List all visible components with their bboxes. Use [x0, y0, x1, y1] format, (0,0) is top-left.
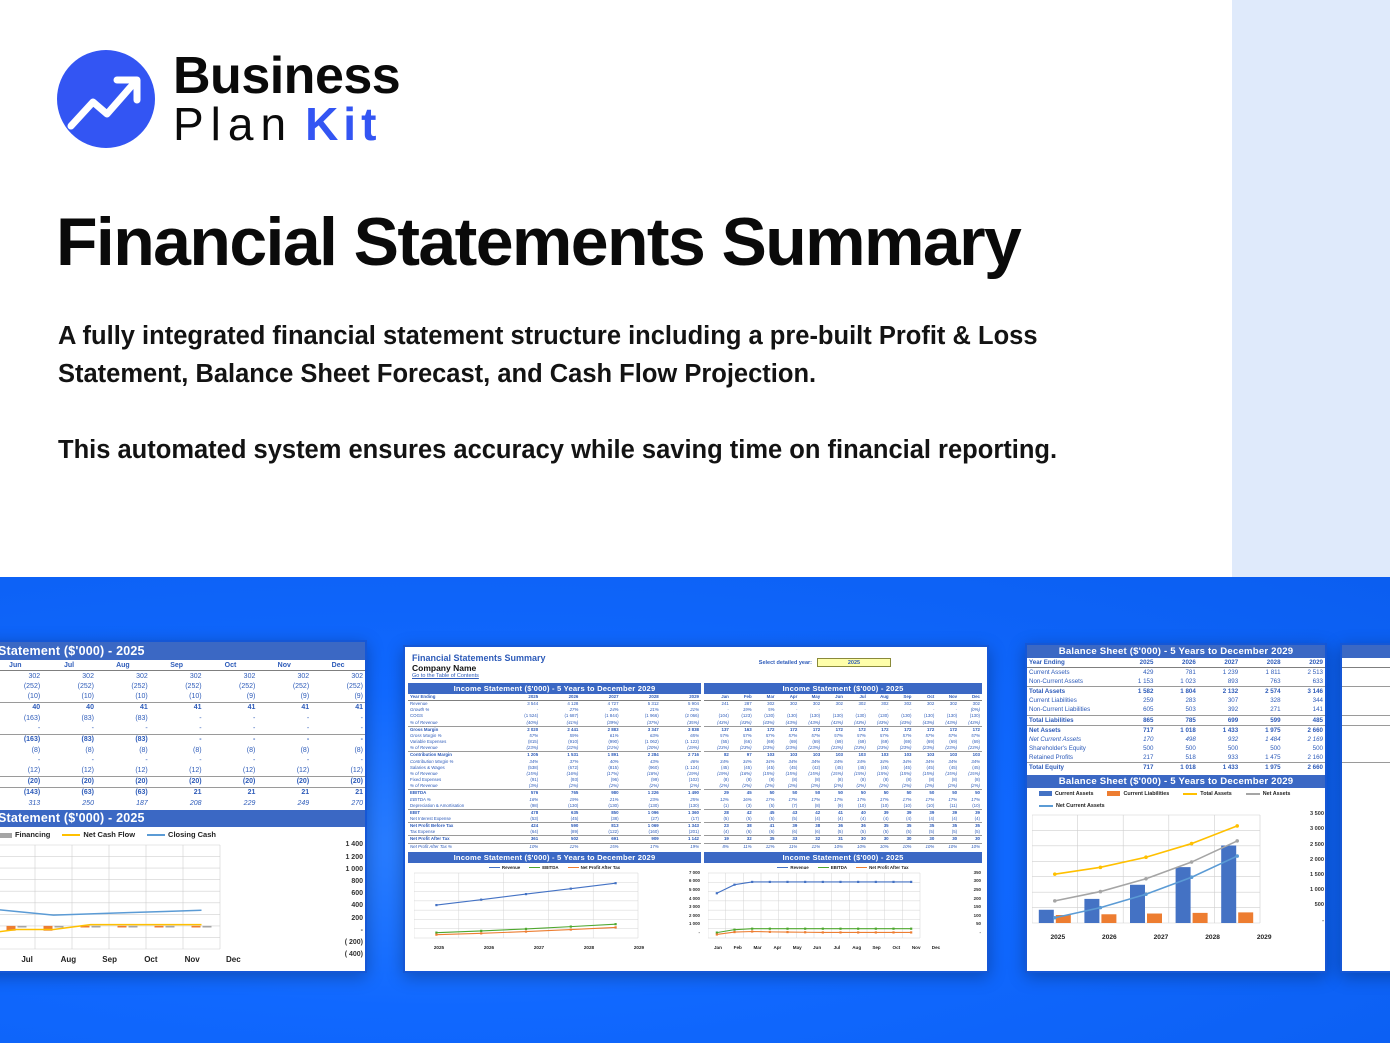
table-row: Jan [1342, 658, 1390, 668]
cell: Net Interest Expense [408, 816, 500, 823]
table-row: -------- [0, 724, 365, 735]
cell: (2%) [868, 783, 891, 790]
cell: 512 [1342, 763, 1390, 773]
cell: (3%) [500, 783, 540, 790]
annual-chart-legend: RevenueEBITDANet Profit After Tax [408, 863, 701, 870]
y-tick: ( 400) [345, 951, 363, 958]
cell: 30 [913, 836, 936, 843]
table-row: 93 [1342, 696, 1390, 705]
legend-swatch [1107, 791, 1120, 796]
cell: (130) [661, 803, 701, 810]
annual-chart-x-labels: 20252026202720282029 [414, 945, 664, 950]
cell: (23%) [845, 745, 868, 752]
cell: 1 239 [1198, 668, 1240, 678]
table-row: Tax Expense(64)(89)(122)(160)(201) [408, 829, 701, 836]
cell: (43%) [845, 720, 868, 727]
cell: (5) [891, 829, 914, 836]
table-row: 500 [1342, 744, 1390, 753]
cell: 717 [1113, 763, 1155, 773]
cell: 302 [204, 671, 258, 682]
table-row: % of Revenue(40%)(41%)(39%)(37%)(35%) [408, 720, 701, 727]
balance-chart-x-labels: 20252026202720282029 [1032, 934, 1290, 941]
cell: 2028 [1240, 658, 1282, 668]
table-row: 233841393836363535353535 [704, 823, 982, 830]
cell: EBITDA [408, 790, 500, 797]
cell: 328 [1240, 696, 1282, 705]
cell: 187 [96, 798, 150, 809]
y-tick: 800 [351, 878, 363, 885]
y-tick: 350 [974, 870, 981, 875]
cell: Retained Profits [1027, 753, 1113, 763]
y-tick: 400 [351, 902, 363, 909]
cell: 30 [959, 836, 982, 843]
cell: 103 [754, 752, 777, 759]
cell: (252) [0, 681, 42, 692]
table-row: 241287302302302302302302302302302302 [704, 701, 982, 708]
cell: 302 [822, 701, 845, 708]
cell: (8) [799, 803, 822, 810]
x-tick: Nov [172, 955, 213, 964]
cell: 35 [936, 823, 959, 830]
table-row: 193235333231303030303030 [704, 836, 982, 843]
cell: 21 [257, 787, 311, 798]
cell: 35 [868, 823, 891, 830]
cell: 1 081 [1342, 735, 1390, 744]
table-row: MayJunJulAugSepOctNovDec [0, 660, 365, 671]
cell: 41 [311, 702, 365, 713]
balance-chart-title: Balance Sheet ($'000) - 5 Years to Decem… [1027, 775, 1325, 788]
cell: 302 [799, 701, 822, 708]
legend-swatch [856, 867, 867, 868]
y-tick: 3 500 [1310, 811, 1324, 817]
cell: (5) [776, 816, 799, 823]
annual-income-title: Income Statement ($'000) - 5 Years to De… [408, 683, 701, 694]
cell: 2025 [500, 694, 540, 701]
cell: - [257, 724, 311, 735]
cell: (252) [96, 681, 150, 692]
income-company-name: Company Name [412, 663, 987, 673]
cell: (43%) [868, 720, 891, 727]
table-row: (43%)(43%)(43%)(43%)(43%)(43%)(43%)(43%)… [704, 720, 982, 727]
cell: 21 [204, 787, 258, 798]
cell: 2026 [1155, 658, 1197, 668]
cell: 518 [1155, 753, 1197, 763]
cell: (37%) [621, 720, 661, 727]
cell: (21%) [580, 745, 620, 752]
cell: (83) [96, 713, 150, 724]
cell: (23%) [776, 745, 799, 752]
table-row: (8)(8)(8)(8)(8)(8)(8)(8) [0, 745, 365, 756]
cell: 1 582 [1113, 687, 1155, 697]
x-tick: May [787, 945, 807, 950]
cell: 21 [311, 787, 365, 798]
cell: (252) [257, 681, 311, 692]
cell: 502 [540, 836, 580, 843]
x-tick: 2029 [1238, 934, 1290, 941]
y-tick: 2 000 [1310, 857, 1324, 863]
cell: 32 [731, 836, 754, 843]
cell: 32 [799, 836, 822, 843]
cell: 217 [1113, 753, 1155, 763]
cell: 50 [845, 790, 868, 797]
cell: (20) [204, 777, 258, 788]
cell: 717 [1113, 725, 1155, 735]
cell: Sep [150, 660, 204, 671]
cell: 270 [311, 798, 365, 809]
cell: 229 [204, 798, 258, 809]
cell: Dec [311, 660, 365, 671]
cell: - [150, 724, 204, 735]
monthly-income-table: JanFebMarAprMayJunJulAugSepOctNovDec2412… [704, 694, 982, 850]
cell: (39%) [580, 720, 620, 727]
legend-swatch [777, 867, 788, 868]
cell: 692 [1342, 705, 1390, 715]
cell: (10) [845, 803, 868, 810]
cell: Total Equity [1027, 763, 1113, 773]
table-row: Year Ending20252026202720282029 [1027, 658, 1325, 668]
cell: 4 128 [540, 701, 580, 708]
cell: (130) [580, 803, 620, 810]
cell: (10) [959, 803, 982, 810]
legend-swatch [818, 867, 829, 868]
hero-paragraph-1: A fully integrated financial statement s… [58, 318, 1133, 393]
cell: 10% [822, 843, 845, 850]
cell: (20) [150, 777, 204, 788]
table-row: Current Liabilities259283307328344 [1027, 696, 1325, 705]
cashflow-screenshot-card[interactable]: Cash Flow Statement ($'000) - 2025 MayJu… [0, 640, 367, 973]
cell: 1 475 [1240, 753, 1282, 763]
cell: 172 [822, 726, 845, 733]
cell: - [0, 755, 42, 766]
cell: 39 [868, 809, 891, 816]
cell: 40 [42, 702, 96, 713]
cell: (8) [96, 745, 150, 756]
cell: (27) [621, 816, 661, 823]
cell: 11% [731, 843, 754, 850]
cell: 33 [776, 836, 799, 843]
cell: (9) [257, 692, 311, 703]
cell: 19 [708, 836, 731, 843]
table-row: Retained Profits2175189331 4752 160 [1027, 753, 1325, 763]
cell: 30 [845, 836, 868, 843]
logo-text-business: Business [173, 51, 400, 102]
table-row: 8%11%12%11%11%10%10%10%10%10%10%10% [704, 843, 982, 850]
cell: 93 [1342, 696, 1390, 705]
cell: 259 [1113, 696, 1155, 705]
table-row: 786 [1342, 715, 1390, 725]
cell: (43%) [708, 720, 731, 727]
cell: (43%) [891, 720, 914, 727]
cell: 2 160 [1283, 753, 1325, 763]
cell: (4) [891, 816, 914, 823]
cell: 302 [311, 671, 365, 682]
cell: 786 [1342, 715, 1390, 725]
cell: (252) [204, 681, 258, 692]
cell: (10) [868, 803, 891, 810]
cell: (5) [822, 829, 845, 836]
cell: (6) [776, 829, 799, 836]
table-row: 294550505050505050505050 [704, 790, 982, 797]
cell: (43%) [754, 720, 777, 727]
cell: - [311, 724, 365, 735]
y-tick: 1 500 [1310, 872, 1324, 878]
balance-sheet-extra-column-card[interactable]: Jan1 1741241 297936927865121 08150012512 [1340, 643, 1390, 973]
table-row: % of Revenue(3%)(2%)(2%)(2%)(2%) [408, 783, 701, 790]
cell: 3 146 [1283, 687, 1325, 697]
cell: (20) [42, 777, 96, 788]
legend-item: Total Assets [1183, 791, 1231, 797]
y-tick: 6 000 [689, 878, 700, 883]
cell: Total Liabilities [1027, 715, 1113, 725]
year-selector-label: Select detailed year: [759, 660, 812, 666]
cell: (2%) [540, 783, 580, 790]
year-selector-value[interactable]: 2025 [817, 658, 891, 667]
y-tick: 500 [1315, 902, 1324, 908]
cell: 2 574 [1240, 687, 1282, 697]
cell: % of Revenue [408, 720, 500, 727]
cell: 39 [891, 809, 914, 816]
balance-sheet-table: Year Ending20252026202720282029Current A… [1027, 658, 1325, 772]
cell: (23%) [913, 745, 936, 752]
cashflow-table-title: Cash Flow Statement ($'000) - 2025 [0, 642, 365, 660]
cashflow-x-axis-labels: MayJunJulAugSepOctNovDec [0, 955, 254, 964]
cell: 1 433 [1198, 725, 1240, 735]
table-row: Net Profit After Tax3615026919091 142 [408, 836, 701, 843]
cell: - [311, 755, 365, 766]
table-row: 1 081 [1342, 735, 1390, 744]
cell: Shareholder's Equity [1027, 744, 1113, 753]
cell: (43%) [913, 720, 936, 727]
cell: (22%) [540, 745, 580, 752]
cell: (23%) [754, 745, 777, 752]
cell: (10) [891, 803, 914, 810]
x-tick: Aug [48, 955, 89, 964]
monthly-income-chart: 35030025020015010050- JanFebMarAprMayJun… [704, 870, 982, 956]
cell: 2 883 [580, 726, 620, 733]
cell: 35 [754, 836, 777, 843]
cell: 1 023 [1155, 677, 1197, 687]
cell: 512 [1342, 725, 1390, 735]
cell: (5) [913, 829, 936, 836]
cell: (23%) [891, 745, 914, 752]
cell: 1 205 [500, 752, 540, 759]
cell: 103 [822, 752, 845, 759]
cell: - [204, 724, 258, 735]
cell: (20) [0, 777, 42, 788]
table-row: EBIT4786358501 0961 360 [408, 809, 701, 816]
cell: 42 [731, 809, 754, 816]
cell: 172 [891, 726, 914, 733]
cell: 2 660 [1283, 763, 1325, 773]
cell: 30 [891, 836, 914, 843]
cell: 36 [822, 823, 845, 830]
cell: (23%) [822, 745, 845, 752]
cell: (9) [204, 692, 258, 703]
cell: - [42, 755, 96, 766]
cell: - [257, 713, 311, 724]
cell: 50 [959, 790, 982, 797]
cell: 307 [1198, 696, 1240, 705]
cell: 10% [868, 843, 891, 850]
y-tick: 2 500 [1310, 842, 1324, 848]
table-row: (2%)(2%)(2%)(2%)(2%)(2%)(2%)(2%)(2%)(2%)… [704, 783, 982, 790]
cell: 1 226 [621, 790, 661, 797]
year-selector[interactable]: Select detailed year: 2025 [759, 658, 891, 667]
income-statement-screenshot-card[interactable]: Financial Statements Summary Company Nam… [403, 645, 989, 973]
cell: 1 360 [661, 809, 701, 816]
cell: (4) [959, 816, 982, 823]
cell: 103 [799, 752, 822, 759]
cell: 2 441 [540, 726, 580, 733]
table-row: 1 174 [1342, 668, 1390, 678]
cell: 287 [731, 701, 754, 708]
legend-swatch [147, 834, 165, 836]
cell: 172 [936, 726, 959, 733]
cell: 97 [731, 752, 754, 759]
cell: 980 [580, 790, 620, 797]
cell: 302 [845, 701, 868, 708]
cell: 2027 [1198, 658, 1240, 668]
cell: 503 [1155, 705, 1197, 715]
x-tick: Nov [906, 945, 926, 950]
cell: (43%) [799, 720, 822, 727]
cell: (35%) [661, 720, 701, 727]
cell: 50 [936, 790, 959, 797]
x-tick: Aug [847, 945, 867, 950]
cell: Total Assets [1027, 687, 1113, 697]
table-row: 124 [1342, 677, 1390, 687]
cell: 35 [959, 823, 982, 830]
legend-swatch [62, 834, 80, 836]
cell: 103 [868, 752, 891, 759]
cell: 50 [913, 790, 936, 797]
cell: Jan [708, 694, 731, 701]
cell: 691 [580, 836, 620, 843]
cell: (160) [621, 829, 661, 836]
cell: 12% [754, 843, 777, 850]
cell: 1 174 [1342, 668, 1390, 678]
table-row: (163)(163)(83)(83)---- [0, 734, 365, 745]
y-tick: 4 000 [689, 896, 700, 901]
cell: 361 [500, 836, 540, 843]
cell: 302 [936, 701, 959, 708]
cell: 302 [913, 701, 936, 708]
cell: 1 096 [621, 809, 661, 816]
cell: - [257, 755, 311, 766]
cell: 302 [891, 701, 914, 708]
cell: (45) [540, 816, 580, 823]
legend-swatch [0, 833, 12, 838]
cell: % of Revenue [408, 745, 500, 752]
cell: 271 [1240, 705, 1282, 715]
cell: 1 891 [580, 752, 620, 759]
cell: (2%) [621, 783, 661, 790]
cell: 8% [708, 843, 731, 850]
cell: 50 [754, 790, 777, 797]
cell: 103 [959, 752, 982, 759]
cell: 82 [708, 752, 731, 759]
cell: 172 [776, 726, 799, 733]
hero-section: Business Plan Kit Financial Statements S… [0, 0, 1390, 577]
cell: - [204, 755, 258, 766]
cell: 241 [708, 701, 731, 708]
legend-swatch [529, 867, 540, 868]
y-tick: 1 000 [689, 921, 700, 926]
cell: (43%) [731, 720, 754, 727]
cell: Current Assets [1027, 668, 1113, 678]
y-tick: - [980, 930, 981, 935]
cell: (8) [204, 745, 258, 756]
x-tick: Oct [886, 945, 906, 950]
cell: Nov [936, 694, 959, 701]
cell: 103 [936, 752, 959, 759]
table-row: 692 [1342, 705, 1390, 715]
cell: 1 069 [621, 823, 661, 830]
cell: 10% [845, 843, 868, 850]
cell: 302 [96, 671, 150, 682]
cell: (1) [708, 803, 731, 810]
cell: (20%) [621, 745, 661, 752]
cell: (163) [0, 713, 42, 724]
cell: 36 [845, 823, 868, 830]
table-row: Non-Current Assets1 1531 023893763633 [1027, 677, 1325, 687]
table-row: Year Ending20252026202720282029 [408, 694, 701, 701]
cell: (10) [913, 803, 936, 810]
y-tick: 50 [976, 921, 981, 926]
cell: 2028 [621, 694, 661, 701]
cell: - [150, 734, 204, 745]
cell: Dec [959, 694, 982, 701]
cell: 103 [845, 752, 868, 759]
table-row: (5)(5)(5)(5)(4)(4)(4)(4)(4)(4)(4)(4) [704, 816, 982, 823]
cell: 302 [754, 701, 777, 708]
y-tick: 7 000 [689, 870, 700, 875]
cell: 50 [799, 790, 822, 797]
cell: Year Ending [1027, 658, 1113, 668]
cell: 283 [1155, 696, 1197, 705]
cell: May [799, 694, 822, 701]
cell: 41 [150, 702, 204, 713]
cell: 42 [799, 809, 822, 816]
table-row: Gross Margin2 0202 4412 8833 3473 838 [408, 726, 701, 733]
table-row: 4340404141414141 [0, 702, 365, 713]
cell: 39 [936, 809, 959, 816]
cell: (5) [868, 829, 891, 836]
y-tick: 600 [351, 890, 363, 897]
cell: 302 [959, 701, 982, 708]
cell: 1 484 [1240, 735, 1282, 744]
x-tick: Jul [7, 955, 48, 964]
cell: (83) [42, 734, 96, 745]
cell: 40 [845, 809, 868, 816]
cell: 172 [754, 726, 777, 733]
cell: Year Ending [408, 694, 500, 701]
x-tick: Dec [926, 945, 946, 950]
cell: Net Current Assets [1027, 735, 1113, 744]
cell: (4) [868, 816, 891, 823]
cell: (23%) [731, 745, 754, 752]
y-tick: - [699, 930, 700, 935]
cell: (98) [500, 803, 540, 810]
cell: 599 [1240, 715, 1282, 725]
cell: Jul [42, 660, 96, 671]
cell: 2 284 [621, 752, 661, 759]
cell: Feb [731, 694, 754, 701]
cashflow-chart: 1 4001 2001 000800600400200-( 200)( 400)… [0, 841, 365, 971]
cell: 3 838 [661, 726, 701, 733]
balance-sheet-screenshot-card[interactable]: Balance Sheet ($'000) - 5 Years to Decem… [1025, 643, 1327, 973]
table-row: 302302302302302302302302 [0, 671, 365, 682]
